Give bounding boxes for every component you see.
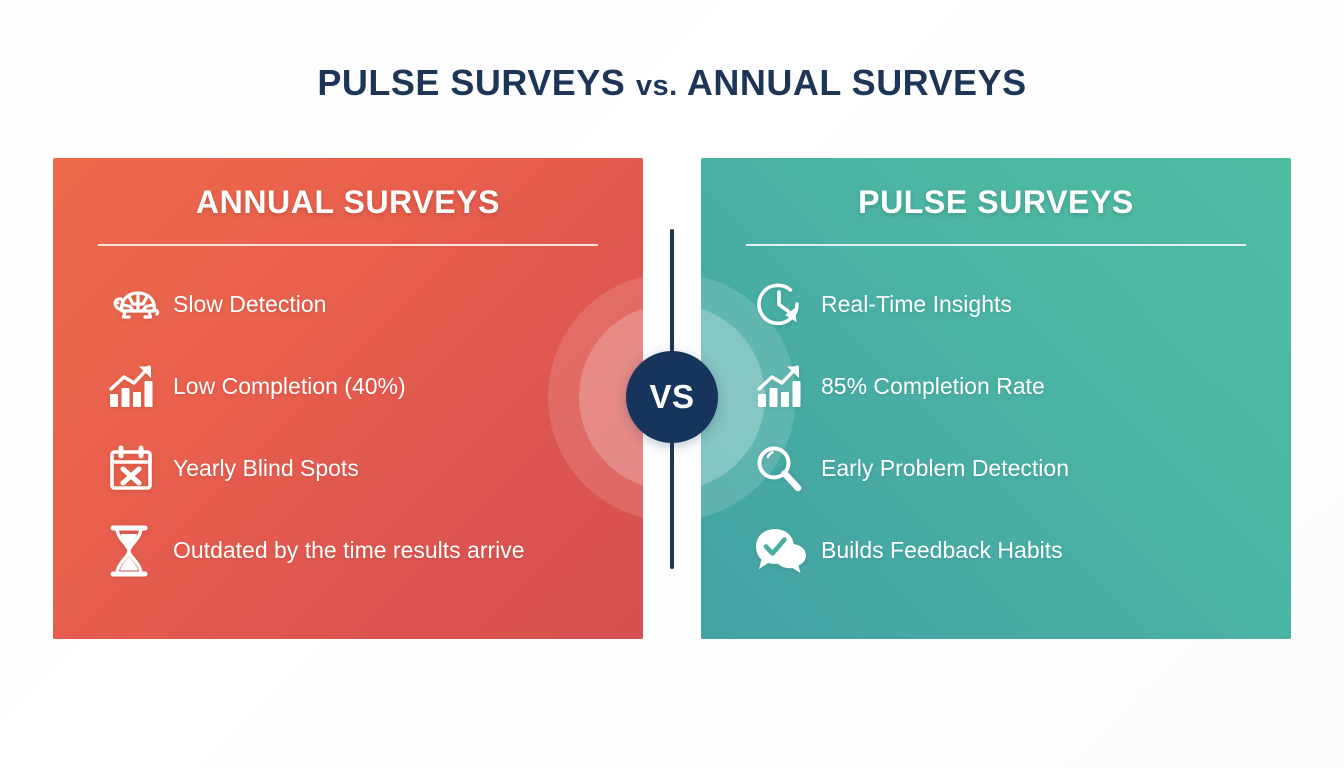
infographic-canvas: PULSE SURVEYS vs. ANNUAL SURVEYS ANNUAL … — [0, 0, 1344, 768]
page-title-part-2: ANNUAL SURVEYS — [687, 62, 1027, 103]
page-title-vs: vs. — [636, 70, 678, 102]
vs-badge-label: VS — [649, 378, 694, 416]
vs-halo-right — [701, 158, 1291, 639]
center-divider-line — [670, 229, 674, 569]
page-title-part-1: PULSE SURVEYS — [317, 62, 625, 103]
page-title: PULSE SURVEYS vs. ANNUAL SURVEYS — [0, 62, 1344, 104]
vs-halo-left — [53, 158, 643, 639]
